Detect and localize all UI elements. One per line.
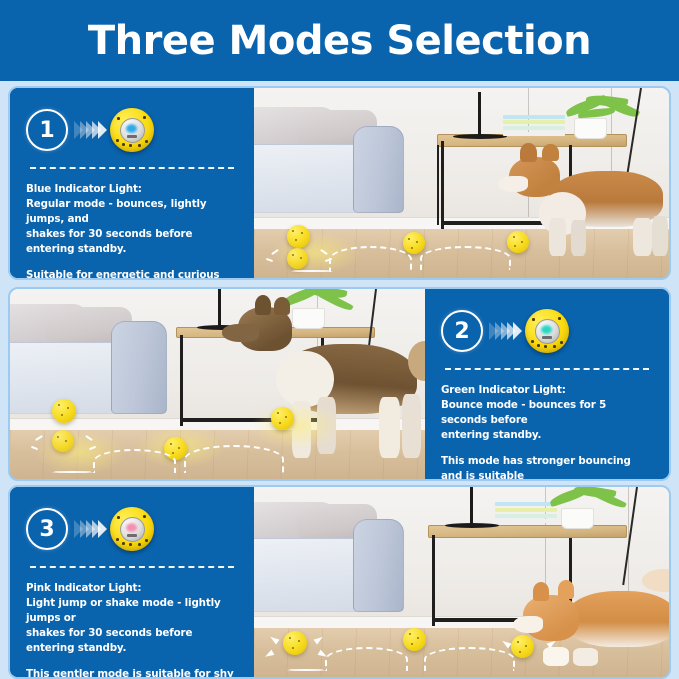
chevron-arrows-icon [74,121,104,139]
mode-3-line-1: Pink Indicator Light: [26,581,240,596]
mode-panel-2: 2 Green Indicator Light: Bounce mode - b… [8,287,671,481]
mode-2-text-column: 2 Green Indicator Light: Bounce mode - b… [425,289,669,479]
mode-2-photo [10,289,425,479]
mode-1-text-column: 1 Blue Indicator Light: Regular mode - b… [10,88,254,278]
ball-in-scene [507,231,529,253]
mode-panel-3: 3 Pink Indicator Light: Light jump or sh… [8,485,671,679]
page-title: Three Modes Selection [88,18,591,64]
mode-2-line-2: Bounce mode - bounces for 5 seconds befo… [441,398,655,428]
smart-ball-icon [110,507,154,551]
ball-in-scene [287,225,310,248]
mode-3-line-3: shakes for 30 seconds before entering st… [26,626,240,656]
dog-shiba-inu [520,574,669,669]
mode-2-note-line-1: This mode has stronger bouncing and is s… [441,454,655,481]
chevron-arrows-icon [74,520,104,538]
mode-2-line-1: Green Indicator Light: [441,383,655,398]
mode-3-text-column: 3 Pink Indicator Light: Light jump or sh… [10,487,254,677]
mode-1-divider [30,167,234,169]
mode-1-number-badge: 1 [26,109,68,151]
mode-2-line-3: entering standby. [441,428,655,443]
chevron-arrows-icon [489,322,519,340]
ball-in-scene [52,399,76,423]
mode-3-header-row: 3 [26,501,240,557]
mode-2-description: Green Indicator Light: Bounce mode - bou… [441,383,655,481]
mode-3-divider [30,566,234,568]
mode-1-description: Blue Indicator Light: Regular mode - bou… [26,182,240,280]
mode-1-line-1: Blue Indicator Light: [26,182,240,197]
mode-1-line-3: shakes for 30 seconds before entering st… [26,227,240,257]
ball-in-scene [287,248,308,269]
smart-ball-icon [110,108,154,152]
ball-in-scene [403,628,426,651]
mode-1-line-2: Regular mode - bounces, lightly jumps, a… [26,197,240,227]
mode-1-note: Suitable for energetic and curious dogs. [26,268,240,280]
promo-graphic: Three Modes Selection 1 Blue Indicator [0,0,679,679]
mode-3-photo [254,487,669,677]
smart-ball-icon [525,309,569,353]
mode-1-photo [254,88,669,278]
mode-3-line-2: Light jump or shake mode - lightly jumps… [26,596,240,626]
ball-in-scene [52,430,74,452]
mode-1-header-row: 1 [26,102,240,158]
mode-3-note: This gentler mode is suitable for shy or… [26,667,240,679]
mode-3-description: Pink Indicator Light: Light jump or shak… [26,581,240,679]
mode-2-number-badge: 2 [441,310,483,352]
mode-3-number-badge: 3 [26,508,68,550]
mode-panel-1: 1 Blue Indicator Light: Regular mode - b… [8,86,671,280]
mode-2-header-row: 2 [441,303,655,359]
mode-2-divider [445,368,649,370]
header-banner: Three Modes Selection [0,0,679,81]
